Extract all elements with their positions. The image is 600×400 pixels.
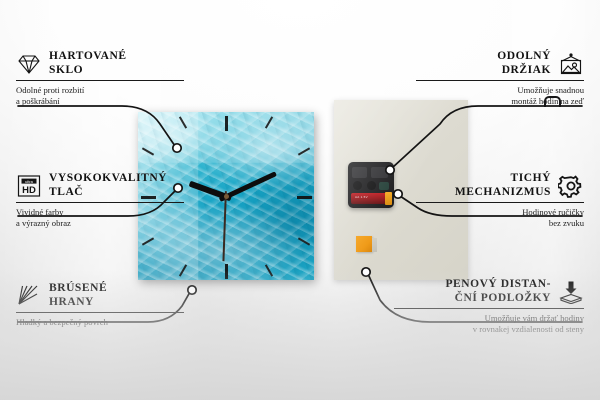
feature-title-line2: MECHANIZMUS [455, 186, 551, 198]
feature-desc-line1: Hladký a bezpečný povrch [16, 317, 108, 327]
feature-title-line1: TICHÝ [511, 172, 551, 184]
feature-desc-line2: a poškrábání [16, 96, 60, 106]
gear-icon [558, 174, 584, 198]
feature-title-line2: SKLO [49, 64, 83, 76]
ultra-hd-icon: ultra HD [16, 174, 42, 198]
feature-title-line1: VYSOKOKVALITNÝ [49, 172, 167, 184]
svg-text:HD: HD [22, 185, 36, 196]
feature-desc-line1: Hodinové ručičky [522, 207, 584, 217]
feature-desc-line1: Umožňuje vám držať hodiny [485, 313, 584, 323]
feature-title-line1: BRÚSENÉ [49, 282, 107, 294]
feature-desc-line1: Umožňuje snadnou [517, 85, 584, 95]
feature-title-line1: HARTOVANÉ [49, 50, 127, 62]
feature-desc-line2: montáž hodin na zeď [511, 96, 584, 106]
feature-divider [16, 80, 184, 81]
feature-title-line2: HRANY [49, 296, 94, 308]
battery-label: AA 1.5V [355, 195, 368, 199]
feature-divider [416, 80, 584, 81]
foam-spacer-pad [356, 236, 372, 252]
feature-divider [394, 308, 584, 309]
wall-mount-icon [558, 52, 584, 76]
feature-title-line2: DRŽIAK [502, 64, 551, 76]
feature-desc-line1: Vividné farby [16, 207, 63, 217]
feature-title-line1: PENOVÝ DISTAN- [445, 278, 551, 290]
product-infographic: AA 1.5V [0, 0, 600, 400]
feature-divider [16, 202, 184, 203]
feature-quiet-movement[interactable]: TICHÝ MECHANIZMUS Hodinové ručičky bez z… [416, 172, 584, 229]
feature-wall-mount[interactable]: ODOLNÝ DRŽIAK Umožňuje snadnou montáž ho… [416, 50, 584, 107]
feature-title-line2: TLAČ [49, 186, 83, 198]
feature-divider [416, 202, 584, 203]
feature-divider [16, 312, 184, 313]
svg-text:ultra: ultra [25, 178, 34, 183]
feature-beveled-edges[interactable]: BRÚSENÉ HRANY Hladký a bezpečný povrch [16, 282, 184, 328]
feature-title-line1: ODOLNÝ [497, 50, 551, 62]
diamond-icon [16, 52, 42, 76]
feature-desc-line2: bez zvuku [549, 218, 584, 228]
feature-foam-spacers[interactable]: PENOVÝ DISTAN- ČNÍ PODLOŽKY Umožňuje vám… [394, 278, 584, 335]
feature-tempered-glass[interactable]: HARTOVANÉ SKLO Odolné proti rozbití a po… [16, 50, 184, 107]
feature-hd-print[interactable]: ultra HD VYSOKOKVALITNÝ TLAČ Vividné far… [16, 172, 184, 229]
foam-spacer-icon [558, 280, 584, 304]
feature-title-line2: ČNÍ PODLOŽKY [455, 292, 551, 304]
clock-mechanism: AA 1.5V [348, 162, 394, 208]
feature-desc-line2: a výrazný obraz [16, 218, 71, 228]
feature-desc-line1: Odolné proti rozbití [16, 85, 84, 95]
clock-battery: AA 1.5V [351, 193, 391, 204]
clock-center-cap [224, 194, 229, 199]
feature-desc-line2: v rovnakej vzdialenosti od steny [473, 324, 584, 334]
beveled-edges-icon [16, 284, 42, 308]
